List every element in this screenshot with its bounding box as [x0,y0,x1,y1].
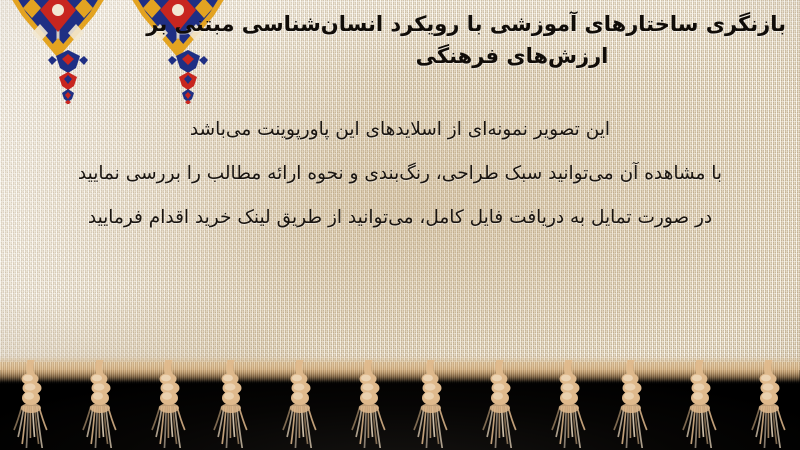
body-line-3: در صورت تمایل به دریافت فایل کامل، می‌تو… [18,196,782,240]
fringe-tassel [78,360,122,448]
fringe-tassel [678,360,722,448]
carpet-fringe-band [0,356,800,450]
fringe-tassel [278,360,322,448]
fringe-tassel [609,360,653,448]
fringe-tassel [209,360,253,448]
fringe-tassel [478,360,522,448]
fringe-tassel [747,360,791,448]
body-line-2: با مشاهده آن می‌توانید سبک طراحی، رنگ‌بن… [18,152,782,196]
fringe-tassel [409,360,453,448]
carpet-pendant-icon [166,48,210,104]
fringe-tassel [547,360,591,448]
slide-title-line-2: ارزش‌های فرهنگی [238,40,786,72]
slide-title-line-1: بازنگری ساختارهای آموزشی با رویکرد انسان… [238,8,786,40]
slide-body-text: این تصویر نمونه‌ای از اسلایدهای این پاور… [18,108,782,240]
body-line-1: این تصویر نمونه‌ای از اسلایدهای این پاور… [18,108,782,152]
fringe-tassel [147,360,191,448]
slide-title: بازنگری ساختارهای آموزشی با رویکرد انسان… [238,8,786,72]
fringe-tassel [347,360,391,448]
carpet-pendant-icon [46,48,90,104]
fringe-tassel-row [0,360,800,450]
slide-canvas: بازنگری ساختارهای آموزشی با رویکرد انسان… [0,0,800,450]
fringe-tassel [9,360,53,448]
